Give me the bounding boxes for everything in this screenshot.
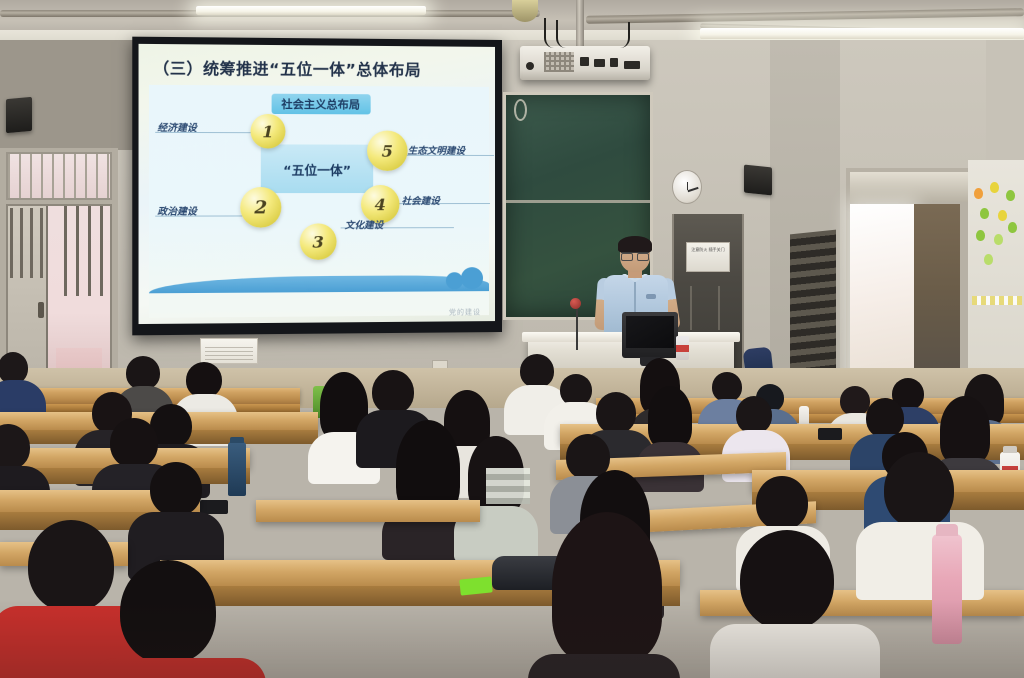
projector-port-2: [594, 59, 605, 67]
desktop-monitor[interactable]: [622, 312, 678, 358]
student-head: [596, 392, 636, 434]
slide-diagram: 社会主义总布局 “五位一体” 1 2 3 4 5 经济建设 政治建设: [149, 85, 489, 318]
student-hair: [552, 512, 662, 662]
phone-on-desk-a[interactable]: [818, 428, 842, 440]
slide-node-2: 2: [240, 187, 281, 228]
projector-lens: [526, 62, 534, 70]
student-head: [520, 354, 554, 388]
projector-cable-2: [556, 20, 582, 48]
chalkboard-hook: [514, 99, 527, 121]
green-item[interactable]: [459, 576, 492, 595]
sticker-4: [980, 208, 989, 219]
blue-thermos[interactable]: [228, 442, 246, 496]
projector: [520, 46, 650, 80]
slide-label-5: 生态文明建设: [408, 143, 465, 157]
sticker-5: [998, 210, 1007, 221]
clock-hour-hand: [687, 182, 689, 190]
sticker-9: [984, 254, 993, 265]
student-head: [126, 356, 160, 390]
student-head: [840, 386, 870, 416]
slide-label-4: 社会建设: [402, 193, 440, 207]
wall-right-upper: [986, 40, 1024, 160]
student-hair: [940, 396, 990, 464]
student-body: [90, 658, 266, 678]
student-head: [186, 362, 222, 398]
sticker-7: [994, 234, 1003, 245]
thermos-cap: [230, 437, 244, 443]
student-head: [120, 560, 216, 664]
slide-node-3: 3: [300, 223, 337, 260]
door-seam-left: [690, 286, 692, 330]
student-head: [756, 476, 808, 530]
wall-clock: [672, 170, 702, 204]
sticker-strip: [972, 296, 1022, 305]
bottle-cap: [1003, 446, 1017, 453]
lecture-hall-photo: （三）统筹推进“五位一体”总体布局 社会主义总布局 “五位一体” 1 2 3 4…: [0, 0, 1024, 678]
window-glass: [850, 204, 914, 390]
wall-decoration-panel: [968, 160, 1024, 400]
chalkboard-divider: [506, 200, 650, 203]
desk-row-d-mid: [256, 500, 480, 522]
pink-thermos[interactable]: [932, 534, 962, 644]
slide-title: （三）统筹推进“五位一体”总体布局: [153, 56, 487, 81]
student-head: [884, 452, 954, 528]
microphone-icon: [570, 298, 581, 309]
ceiling-lamp-bulb: [512, 0, 538, 22]
door-handle[interactable]: [38, 302, 44, 318]
projection-screen: （三）统筹推进“五位一体”总体布局 社会主义总布局 “五位一体” 1 2 3 4…: [132, 37, 502, 336]
slide-label-3: 文化建设: [345, 217, 384, 231]
projector-cable-3: [600, 22, 630, 48]
slide-node-5: 5: [367, 131, 408, 171]
teacher-hair: [618, 236, 652, 253]
slide-label-2: 政治建设: [157, 203, 197, 217]
student-head: [736, 396, 772, 434]
student-head: [28, 520, 114, 612]
slide-center-box: “五位一体”: [261, 144, 373, 193]
plaid-shirt-pattern: [486, 468, 530, 504]
projector-port-1: [580, 57, 589, 66]
storage-rack: [790, 230, 836, 377]
fluorescent-light-1: [196, 6, 426, 15]
slide-water-band: [149, 275, 489, 293]
sticker-1: [974, 188, 983, 199]
slide-node-1: 1: [251, 114, 286, 149]
projector-port-3: [610, 58, 618, 67]
student-head: [712, 372, 742, 402]
slide-banner: 社会主义总布局: [271, 94, 370, 115]
sticker-6: [976, 230, 985, 241]
student-body: [856, 522, 984, 600]
teacher-shirt-logo: [646, 294, 656, 299]
slide-center-label: “五位一体”: [283, 159, 351, 178]
window-shade: [850, 172, 982, 202]
fluorescent-light-2: [700, 28, 1024, 39]
clock-minute-hand: [687, 187, 698, 192]
door-leaf-bars: [10, 208, 44, 278]
slide-surface: （三）统筹推进“五位一体”总体布局 社会主义总布局 “五位一体” 1 2 3 4…: [139, 44, 495, 324]
student-head: [740, 530, 834, 630]
student-body: [528, 654, 680, 678]
slide-logo: 党的建设: [449, 307, 481, 317]
door-sign: 注意防火 随手关门: [686, 242, 730, 272]
transom-window: [6, 152, 112, 200]
sticker-2: [990, 182, 999, 193]
pink-thermos-cap: [936, 524, 958, 536]
sticker-8: [1008, 222, 1017, 233]
student-head: [372, 370, 414, 414]
student-hair: [648, 386, 692, 448]
wall-upper-left-panel: [0, 40, 140, 150]
slide-label-1: 经济建设: [157, 120, 197, 134]
gate-bars: [64, 206, 110, 296]
monitor-screen: [626, 316, 674, 348]
notice-text-lines: [205, 344, 253, 360]
energy-drink-can[interactable]: [676, 336, 689, 360]
transom-bars: [8, 154, 110, 198]
door-seam-right: [718, 286, 720, 330]
slide-gear-large: [461, 267, 483, 289]
projector-vent: [544, 52, 574, 72]
microphone-stand: [576, 304, 578, 350]
wall-speaker-right-icon: [744, 165, 772, 196]
student-head: [110, 418, 158, 468]
student-head: [150, 462, 202, 516]
wall-speaker-left-icon: [6, 97, 32, 133]
right-window: [846, 168, 986, 394]
projector-port-4: [624, 61, 640, 69]
sticker-3: [1006, 190, 1015, 201]
student-body: [710, 624, 880, 678]
wall-notice: [200, 338, 258, 364]
glasses-icon: [621, 252, 649, 258]
window-dark-panel: [914, 204, 960, 390]
